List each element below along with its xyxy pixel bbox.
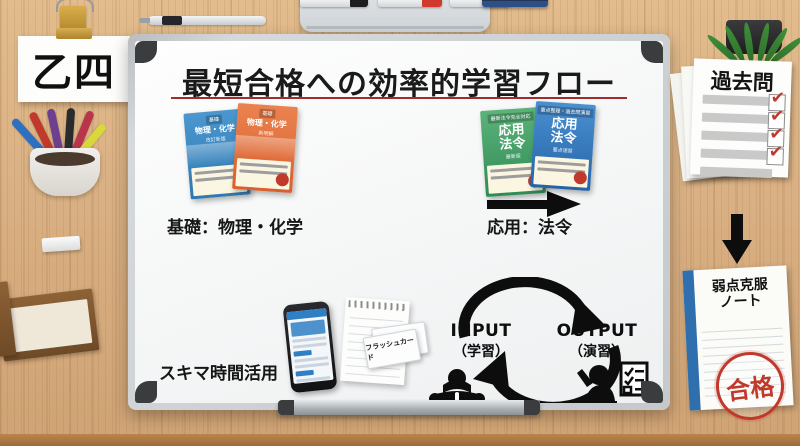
book-band: 基礎 [206, 114, 223, 124]
book-title: 応用 法令 [550, 117, 578, 146]
check-mark: ✔ [770, 90, 785, 107]
pen-cup-icon [8, 112, 120, 198]
output-jp: （演習） [547, 341, 647, 361]
whiteboard-corner [135, 381, 157, 403]
flashcard-label: フラッシュカード [364, 330, 420, 369]
book-title: 物理・化学 [195, 124, 236, 136]
paper-front: 過去問 ✔ ✔ ✔ ✔ [690, 58, 792, 177]
basic-books-group: 基礎 物理・化学 改訂新版 基礎 物理・化学 新明解 [187, 103, 327, 203]
phone-card [290, 319, 325, 336]
weakness-note-line2: ノート [698, 292, 784, 313]
desk-edge [0, 434, 800, 446]
red-marker [378, 0, 442, 7]
desk-person-checklist-icon [575, 361, 649, 403]
potted-plant-icon [700, 0, 800, 60]
whiteboard-eraser [482, 0, 548, 7]
check-mark: ✔ [770, 108, 785, 125]
applied-book-2: 重点整理・過去問演習 応用 法令 要点速習 [530, 101, 596, 191]
notepad-rings [348, 300, 406, 311]
weakness-note-title: 弱点克服 ノート [697, 276, 784, 313]
pen-cup [30, 148, 100, 196]
study-cycle-diagram: INPUT （学習） OUTPUT （演習） [435, 277, 645, 403]
applied-books-group: 最新法令完全対応 応用 法令 最新版 重点整理・過去問演習 応用 法令 要点速習 [483, 101, 623, 201]
whiteboard-corner [641, 381, 663, 403]
book-band: 基礎 [259, 109, 276, 119]
smartphone-icon [283, 301, 338, 393]
input-jp: （学習） [433, 341, 529, 361]
check-mark: ✔ [769, 126, 784, 143]
skima-caption: スキマ時間活用 [159, 359, 278, 384]
white-marker [300, 0, 368, 7]
applied-caption: 応用：法令 [487, 213, 572, 238]
input-en: INPUT [433, 321, 529, 341]
book-title: 応用 法令 [498, 123, 526, 152]
check-mark: ✔ [769, 144, 784, 161]
whiteboard-surface: 最短合格への効率的学習フロー 基礎 物理・化学 改訂新版 基礎 物理・化学 新明… [135, 41, 663, 403]
stacked-books-icon [0, 276, 122, 366]
reading-person-icon [429, 369, 485, 403]
book-title: 物理・化学 [246, 119, 286, 130]
phone-screen [286, 308, 333, 384]
book-band: 最新法令完全対応 [487, 111, 534, 123]
whiteboard: 最短合格への効率的学習フロー 基礎 物理・化学 改訂新版 基礎 物理・化学 新明… [128, 34, 670, 410]
clipboard-label-text: 乙四 [18, 36, 130, 102]
phone-appbar [286, 308, 327, 320]
past-exam-papers: 過去問 ✔ ✔ ✔ ✔ [676, 60, 796, 182]
title-underline [171, 97, 627, 99]
output-en: OUTPUT [547, 321, 647, 341]
infographic-canvas: 乙四 最短合格への効率的学習フロー 基礎 物理・ [0, 0, 800, 446]
book-band: 重点整理・過去問演習 [537, 105, 594, 118]
book-sub: 要点速習 [552, 147, 572, 155]
cycle-input-label: INPUT （学習） [433, 321, 529, 361]
marker-tray [278, 400, 540, 415]
phone-button [293, 350, 311, 357]
book-sub: 最新版 [506, 153, 521, 161]
basic-caption: 基礎：物理・化学 [167, 213, 303, 238]
arrow-down-icon [722, 214, 752, 266]
phone-button [295, 370, 313, 377]
clipboard-label-card: 乙四 [18, 36, 130, 102]
basic-book-2: 基礎 物理・化学 新明解 [232, 103, 298, 193]
book-watermark [234, 135, 295, 161]
cycle-output-label: OUTPUT （演習） [547, 321, 647, 361]
pen-icon [148, 16, 266, 25]
eraser-icon [42, 236, 81, 253]
